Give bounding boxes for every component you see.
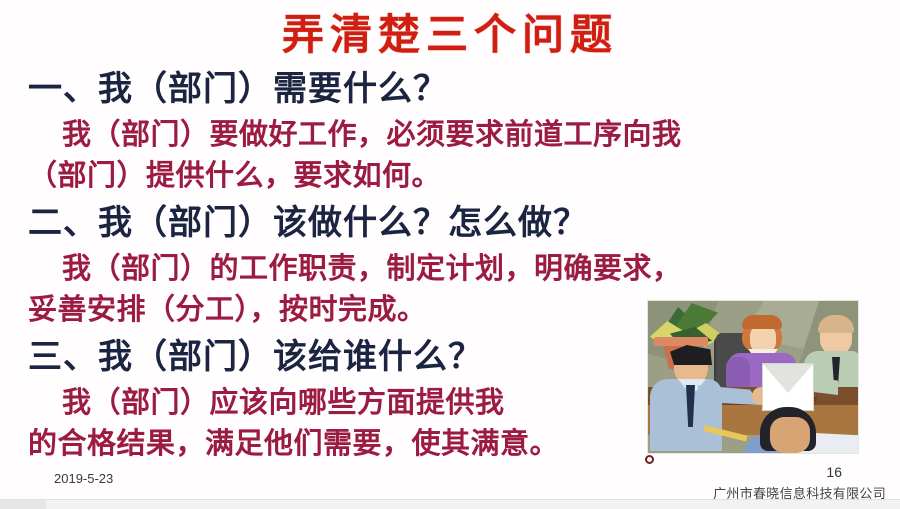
section-one: 一、我（部门）需要什么？ 我（部门）要做好工作，必须要求前道工序向我 （部门）提… (28, 66, 874, 196)
envelope-outline-icon (762, 363, 814, 411)
section-two-line-1: 我（部门）的工作职责，制定计划，明确要求， (28, 248, 682, 289)
bullet-dot-icon (645, 455, 654, 464)
woman-hair-front (742, 315, 782, 329)
foreground-person-face (770, 417, 810, 453)
bottom-status-bar (0, 499, 900, 509)
bottom-bar-tab (0, 500, 46, 509)
section-one-line-1: 我（部门）要做好工作，必须要求前道工序向我 (28, 114, 682, 155)
section-one-body: 我（部门）要做好工作，必须要求前道工序向我 （部门）提供什么，要求如何。 (28, 114, 874, 196)
presentation-slide: 弄清楚三个问题 一、我（部门）需要什么？ 我（部门）要做好工作，必须要求前道工序… (0, 0, 900, 509)
footer-date: 2019-5-23 (54, 471, 113, 486)
page-title: 弄清楚三个问题 (0, 8, 900, 62)
section-three-line-1: 我（部门）应该向哪些方面提供我 (28, 382, 505, 423)
plant-pot-rim (654, 337, 708, 346)
section-one-line-2: （部门）提供什么，要求如何。 (28, 155, 874, 196)
footer-page-number: 16 (826, 464, 842, 480)
business-meeting-image (648, 301, 858, 453)
section-two-heading: 二、我（部门）该做什么？怎么做？ (28, 200, 874, 246)
section-one-heading: 一、我（部门）需要什么？ (28, 66, 874, 112)
